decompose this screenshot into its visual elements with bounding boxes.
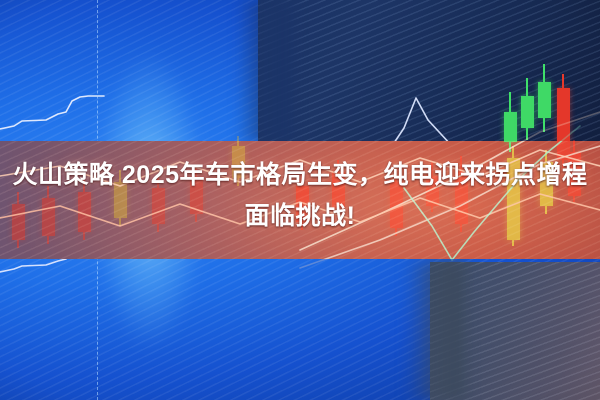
headline-text: 火山策略 2025年车市格局生变，纯电迎来拐点增程面临挑战! (0, 155, 600, 237)
banner-image: 火山策略 2025年车市格局生变，纯电迎来拐点增程面临挑战! (0, 0, 600, 400)
trendline-navy-peak (392, 98, 452, 146)
trendline-left-step-trend (0, 96, 104, 129)
